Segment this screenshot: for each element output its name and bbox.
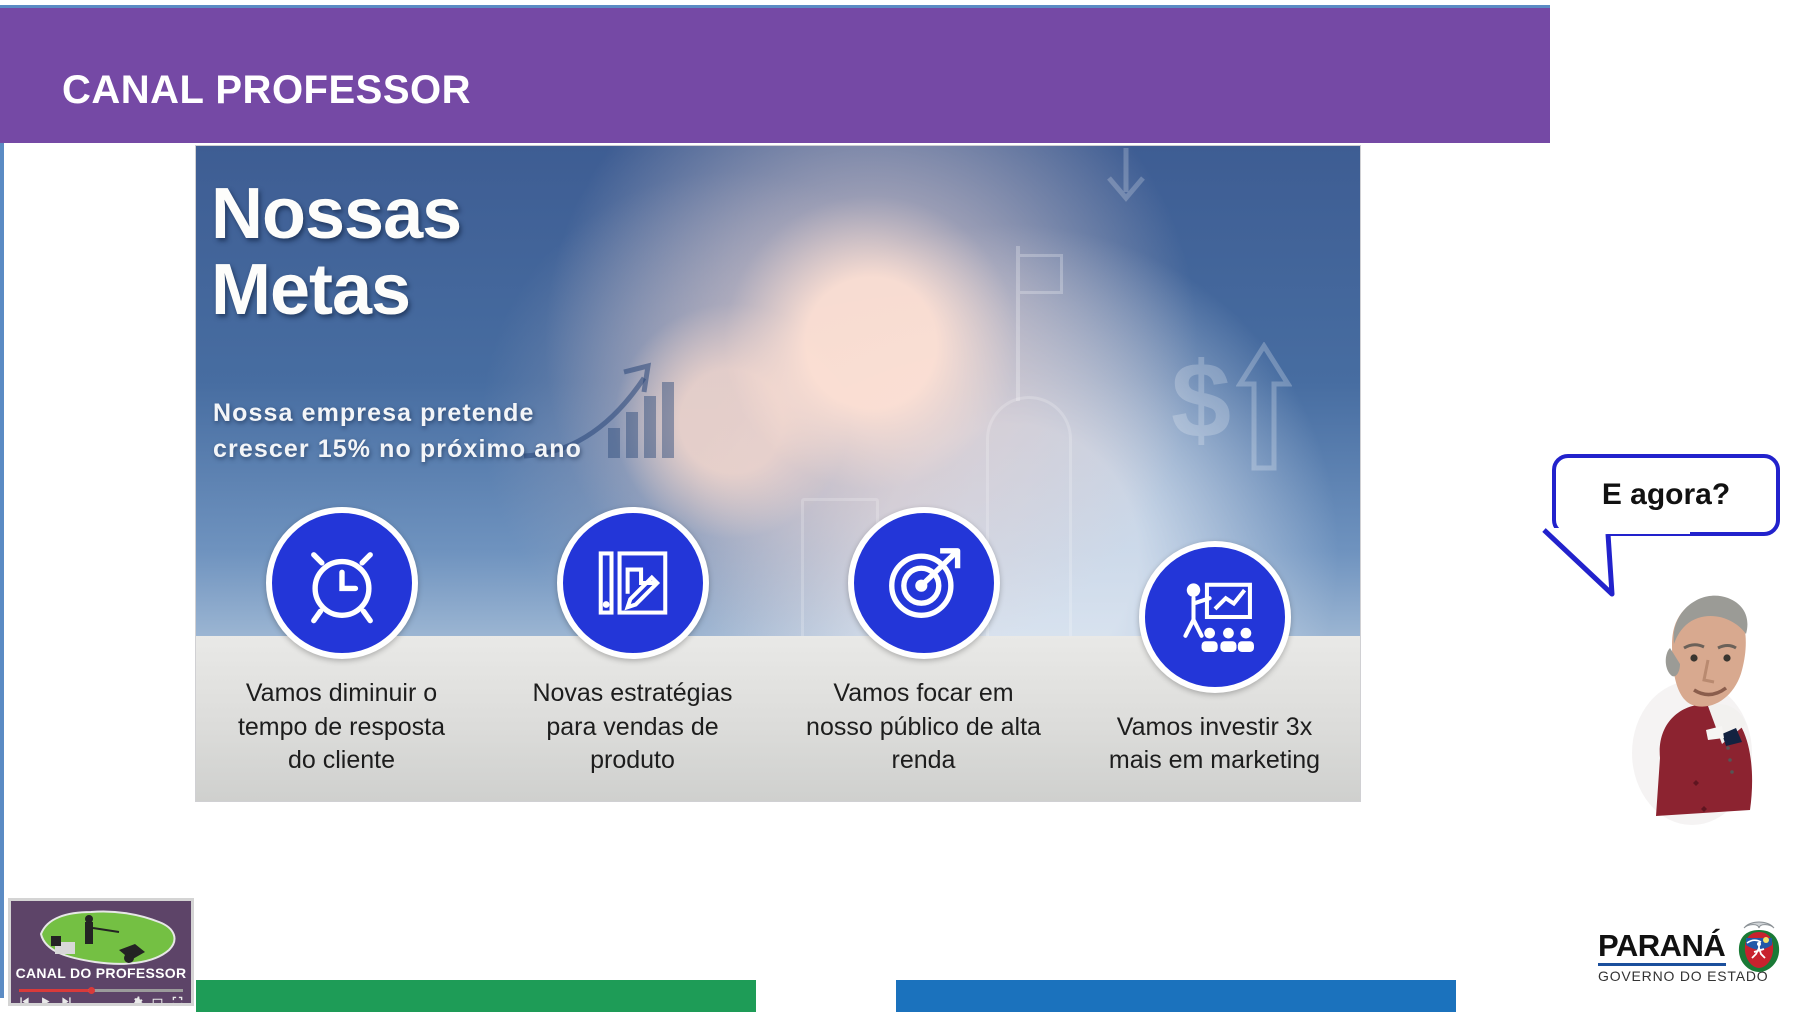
speech-bubble-text: E agora? [1602, 478, 1730, 512]
slide-headline: Nossas Metas [211, 176, 731, 329]
goal-columns: Vamos diminuir o tempo de resposta do cl… [196, 501, 1360, 801]
previous-icon[interactable] [19, 996, 30, 1007]
goal-text: Vamos investir 3x mais em marketing [1097, 711, 1332, 778]
slide-subtitle: Nossa empresa pretende crescer 15% no pr… [213, 396, 733, 467]
headline-line-2: Metas [211, 252, 731, 328]
play-icon[interactable] [40, 996, 51, 1007]
footer-bar-blue [896, 980, 1456, 1012]
blueprint-pencil-icon [557, 507, 709, 659]
goal-column: Novas estratégias para vendas de produto [487, 501, 778, 801]
dollar-sign-icon: $ [1171, 346, 1231, 454]
left-edge-accent [0, 8, 4, 998]
slide-canvas: CANAL PROFESSOR $ Nossas Metas [0, 0, 1800, 1012]
headline-line-1: Nossas [211, 176, 731, 252]
parana-map-icon [33, 906, 183, 968]
goal-text: Vamos focar em nosso público de alta ren… [806, 677, 1041, 777]
subtitle-line-1: Nossa empresa pretende [213, 396, 733, 432]
parana-rule [1598, 963, 1726, 966]
up-arrow-icon [1236, 342, 1292, 472]
small-down-arrow-icon [1091, 146, 1161, 206]
footer-bar-green [196, 980, 756, 1012]
speech-bubble: E agora? [1552, 454, 1780, 536]
next-icon[interactable] [61, 996, 72, 1007]
page-title: CANAL PROFESSOR [62, 68, 471, 113]
presentation-board-icon [1139, 541, 1291, 693]
goal-text: Novas estratégias para vendas de produto [515, 677, 750, 777]
slide-image: $ Nossas Metas Nossa empresa pretende cr… [196, 146, 1360, 801]
presenter-avatar [1600, 548, 1800, 848]
video-progress-bar[interactable] [19, 989, 183, 992]
goal-text: Vamos diminuir o tempo de resposta do cl… [224, 677, 459, 777]
target-arrow-icon [848, 507, 1000, 659]
settings-icon[interactable] [132, 996, 143, 1007]
video-card-title: CANAL DO PROFESSOR [11, 965, 191, 981]
subtitle-line-2: crescer 15% no próximo ano [213, 432, 733, 468]
alarm-clock-icon [266, 507, 418, 659]
goal-column: Vamos diminuir o tempo de resposta do cl… [196, 501, 487, 801]
video-thumbnail-card[interactable]: CANAL DO PROFESSOR [8, 898, 194, 1006]
ghost-flag-icon [1016, 246, 1020, 401]
video-controls[interactable] [19, 995, 183, 1006]
goal-column: Vamos investir 3x mais em marketing [1069, 501, 1360, 801]
goal-column: Vamos focar em nosso público de alta ren… [778, 501, 1069, 801]
theater-mode-icon[interactable] [152, 996, 163, 1007]
parana-government-logo: PARANÁ GOVERNO DO ESTADO [1598, 930, 1788, 992]
header-bar: CANAL PROFESSOR [0, 5, 1550, 143]
fullscreen-icon[interactable] [172, 996, 183, 1007]
parana-coat-of-arms-icon [1730, 914, 1788, 976]
